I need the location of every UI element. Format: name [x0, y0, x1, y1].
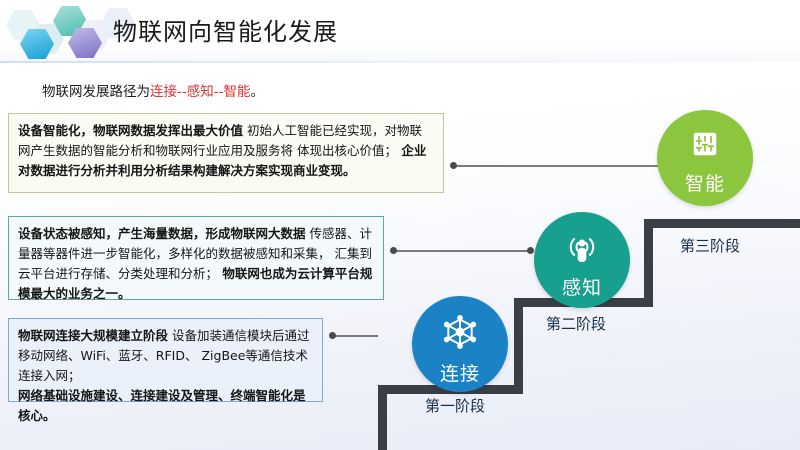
- text-box-stage1-lead: 物联网连接大规模建立阶段: [18, 328, 168, 343]
- stair-riser-2: [644, 219, 653, 307]
- stair-tread-3: [644, 219, 800, 228]
- stage-label-3: 第三阶段: [680, 235, 740, 256]
- text-box-stage2-lead: 设备状态被感知，产生海量数据，形成物联网大数据: [18, 226, 306, 241]
- circle-smart[interactable]: 智能: [657, 110, 753, 206]
- sensor-signal-icon: [563, 228, 601, 271]
- stair-riser-0: [378, 385, 387, 450]
- connector-dot-box3: [329, 332, 336, 339]
- page-title: 物联网向智能化发展: [113, 12, 338, 47]
- stage-label-2: 第二阶段: [546, 313, 606, 334]
- text-box-stage1: 物联网连接大规模建立阶段 设备加装通信模块后通过移动网络、WiFi、蓝牙、RFI…: [8, 318, 323, 402]
- text-box-stage3-lead: 设备智能化，物联网数据发挥出最大价值: [18, 123, 243, 138]
- slide-header: 物联网向智能化发展: [0, 0, 800, 62]
- hexagon-logo-cluster: [6, 2, 116, 58]
- circle-sense[interactable]: 感知: [534, 212, 630, 308]
- connector-line-box3: [330, 335, 378, 337]
- connector-line-box1: [452, 165, 660, 167]
- header-divider: [0, 61, 800, 63]
- chip-icon: [687, 126, 723, 167]
- stair-riser-1: [514, 298, 523, 394]
- stage-label-1: 第一阶段: [425, 395, 485, 416]
- intro-prefix: 物联网发展路径为: [42, 84, 150, 100]
- circle-smart-label: 智能: [685, 169, 725, 196]
- text-box-stage1-tail: 网络基础设施建设、连接建设及管理、终端智能化是核心。: [18, 388, 306, 423]
- network-nodes-icon: [440, 312, 480, 357]
- circle-connect-label: 连接: [440, 359, 480, 386]
- text-box-stage3: 设备智能化，物联网数据发挥出最大价值 初始人工智能已经实现，对物联网产生数据的智…: [8, 113, 444, 193]
- circle-connect[interactable]: 连接: [412, 296, 508, 392]
- text-box-stage2: 设备状态被感知，产生海量数据，形成物联网大数据 传感器、计量器等器件进一步智能化…: [8, 216, 384, 300]
- connector-dot-box2-right: [527, 247, 534, 254]
- connector-dot-box1-left: [450, 162, 457, 169]
- connector-dot-box2-left: [390, 247, 397, 254]
- connector-line-box2: [392, 250, 532, 252]
- slide-canvas: 物联网向智能化发展 物联网发展路径为连接--感知--智能。 设备智能化，物联网数…: [0, 0, 800, 450]
- intro-suffix: 。: [251, 84, 265, 100]
- intro-accent: 连接--感知--智能: [150, 84, 251, 100]
- circle-sense-label: 感知: [562, 273, 602, 300]
- intro-line: 物联网发展路径为连接--感知--智能。: [42, 80, 264, 100]
